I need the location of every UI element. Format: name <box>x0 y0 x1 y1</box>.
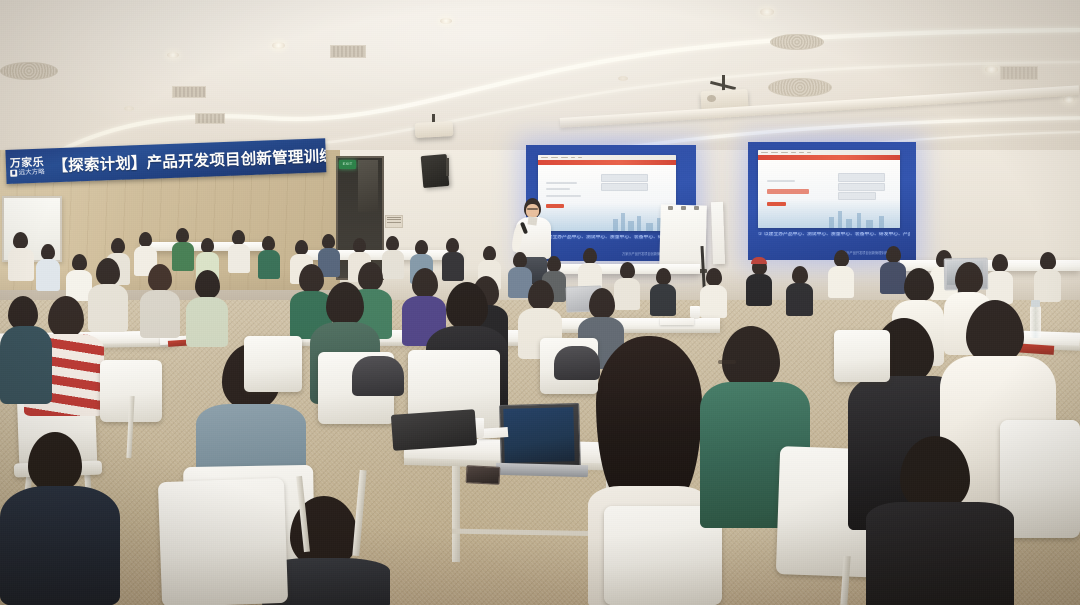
table-edge <box>540 329 720 333</box>
audience-member <box>258 236 280 278</box>
audience-member <box>228 230 250 272</box>
head <box>900 436 970 512</box>
air-vent-square <box>172 86 206 98</box>
presenter-collar <box>527 216 537 225</box>
chair-dark <box>554 346 600 380</box>
glasses-icon <box>718 360 736 364</box>
chair-dark <box>352 356 404 396</box>
audience-member <box>700 268 727 318</box>
company-logo: 万家乐 远大方略 <box>10 156 45 176</box>
flipchart-easel <box>711 202 725 264</box>
downlight <box>760 8 774 16</box>
audience-member <box>36 244 60 290</box>
projection-screen-right: ① 以建立办产品中心、测试中心、质量中心、装备中心、研发中心、产品调研覆盖面 万… <box>748 142 916 260</box>
air-vent-round <box>770 34 824 50</box>
flipchart-clip <box>668 206 673 210</box>
downlight <box>985 66 998 73</box>
audience-member <box>140 264 180 336</box>
audience-member <box>786 266 813 316</box>
downlight <box>167 52 179 58</box>
audience-member <box>0 296 52 404</box>
audience-member <box>650 268 676 316</box>
banner-title: 【探索计划】产品开发项目创新管理训练营 <box>52 143 326 176</box>
speaker-bracket <box>446 158 449 176</box>
shirt <box>866 502 1014 605</box>
air-vent-round <box>768 78 832 97</box>
table-leg <box>452 466 460 562</box>
head <box>722 326 780 390</box>
audience-member <box>186 270 228 346</box>
flipchart-clip <box>694 206 699 210</box>
projector-lens <box>707 95 716 102</box>
company-name: 万家乐 <box>10 156 45 168</box>
audience-member-black <box>866 436 1014 605</box>
cap-icon <box>751 257 767 264</box>
chair <box>834 330 890 382</box>
ceiling-projector <box>415 121 454 138</box>
laptop-keyboard-base <box>496 463 588 477</box>
flipchart-clip <box>681 206 686 210</box>
air-vent-square <box>330 45 366 58</box>
audience-member <box>1034 252 1061 302</box>
downlight <box>124 106 134 111</box>
hair <box>596 336 702 502</box>
logo-mark-icon <box>10 169 17 176</box>
wall-control-plate <box>385 215 403 228</box>
chair <box>158 478 288 605</box>
audience-member <box>0 432 120 605</box>
head <box>966 300 1024 364</box>
head <box>48 296 84 338</box>
smartphone <box>466 465 501 485</box>
flipchart-easel <box>659 204 707 271</box>
audience-member <box>828 250 854 298</box>
air-vent-round <box>0 62 58 80</box>
air-vent-square <box>1000 66 1038 80</box>
air-vent-square <box>195 113 225 124</box>
slide-caption-right: ① 以建立办产品中心、测试中心、质量中心、装备中心、研发中心、产品调研覆盖面 <box>758 232 910 239</box>
downlight <box>618 76 628 81</box>
audience-member <box>8 232 34 280</box>
downlight <box>440 18 452 24</box>
banner-divider <box>48 154 49 176</box>
laptop-screen <box>503 407 574 463</box>
partner-mark: 远大方略 <box>19 168 45 175</box>
downlight <box>272 42 285 49</box>
door-glass <box>358 160 378 212</box>
bag <box>391 409 477 451</box>
exit-sign-label: EXIT <box>339 160 356 167</box>
exit-sign: EXIT <box>339 160 356 169</box>
audience-member <box>746 258 772 306</box>
presenter-glasses-icon <box>527 208 538 210</box>
paper-stack <box>660 318 694 325</box>
chair <box>244 336 302 392</box>
conference-room-photo: EXIT 万家乐 远大方略 【探索计划】产品开发项目创新管理训练营 第一期 <box>0 0 1080 605</box>
downlight <box>1063 96 1075 103</box>
